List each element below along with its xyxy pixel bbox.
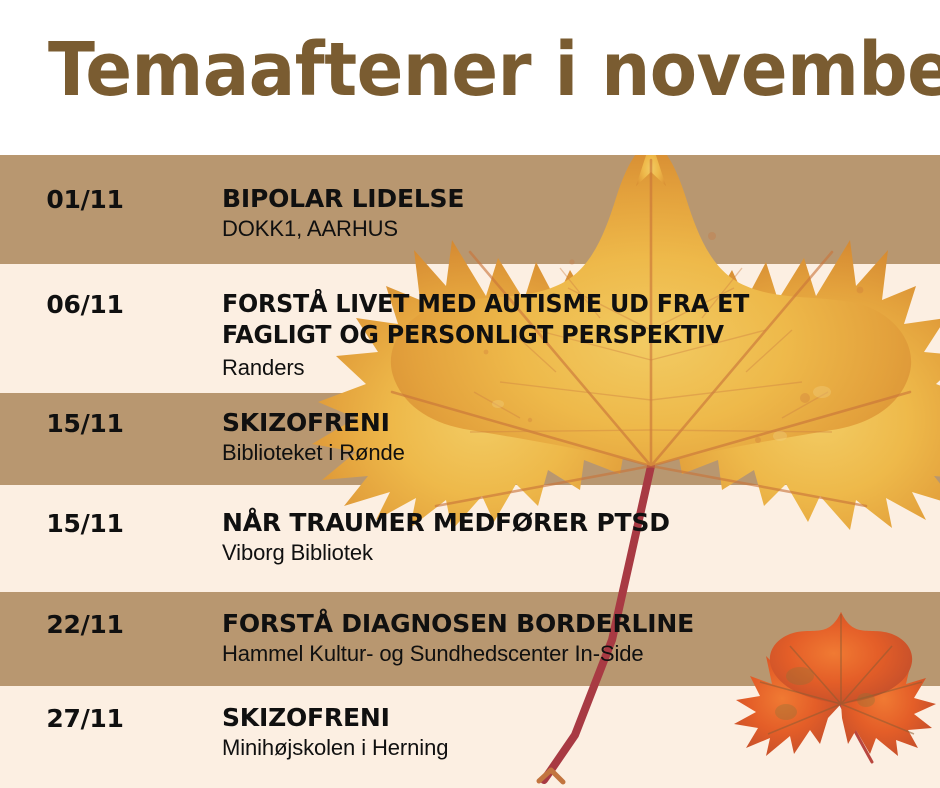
event-body: FORSTÅ DIAGNOSEN BORDERLINE Hammel Kultu… (222, 608, 922, 668)
event-venue: Biblioteket i Rønde (222, 439, 922, 467)
event-body: SKIZOFRENI Biblioteket i Rønde (222, 407, 922, 467)
event-venue: Minihøjskolen i Herning (222, 734, 922, 762)
event-venue: Viborg Bibliotek (222, 539, 922, 567)
event-body: SKIZOFRENI Minihøjskolen i Herning (222, 702, 922, 762)
event-venue: Hammel Kultur- og Sundhedscenter In-Side (222, 640, 922, 668)
event-row[interactable]: 22/11 FORSTÅ DIAGNOSEN BORDERLINE Hammel… (0, 592, 940, 686)
event-title: SKIZOFRENI (222, 702, 922, 733)
event-title: NÅR TRAUMER MEDFØRER PTSD (222, 507, 922, 538)
event-date: 15/11 (0, 509, 170, 539)
event-row[interactable]: 15/11 SKIZOFRENI Biblioteket i Rønde (0, 393, 940, 485)
event-date: 15/11 (0, 409, 170, 439)
event-title: SKIZOFRENI (222, 407, 922, 438)
event-row[interactable]: 01/11 BIPOLAR LIDELSE DOKK1, AARHUS (0, 155, 940, 264)
event-body: NÅR TRAUMER MEDFØRER PTSD Viborg Bibliot… (222, 507, 922, 567)
event-date: 06/11 (0, 290, 170, 320)
event-row[interactable]: 15/11 NÅR TRAUMER MEDFØRER PTSD Viborg B… (0, 485, 940, 592)
poster-canvas: Temaaftener i november 01/11 BIPOLAR LID… (0, 0, 940, 788)
event-title: FORSTÅ LIVET MED AUTISME UD FRA ET FAGLI… (222, 288, 887, 350)
event-venue: Randers (222, 354, 922, 382)
poster-header: Temaaftener i november (0, 0, 940, 155)
event-title: FORSTÅ DIAGNOSEN BORDERLINE (222, 608, 922, 639)
event-row[interactable]: 06/11 FORSTÅ LIVET MED AUTISME UD FRA ET… (0, 264, 940, 393)
event-date: 22/11 (0, 610, 170, 640)
event-body: FORSTÅ LIVET MED AUTISME UD FRA ET FAGLI… (222, 288, 922, 382)
event-venue: DOKK1, AARHUS (222, 215, 922, 243)
event-date: 01/11 (0, 185, 170, 215)
event-date: 27/11 (0, 704, 170, 734)
page-title: Temaaftener i november (48, 28, 940, 112)
event-body: BIPOLAR LIDELSE DOKK1, AARHUS (222, 183, 922, 243)
event-title: BIPOLAR LIDELSE (222, 183, 922, 214)
event-row[interactable]: 27/11 SKIZOFRENI Minihøjskolen i Herning (0, 686, 940, 788)
